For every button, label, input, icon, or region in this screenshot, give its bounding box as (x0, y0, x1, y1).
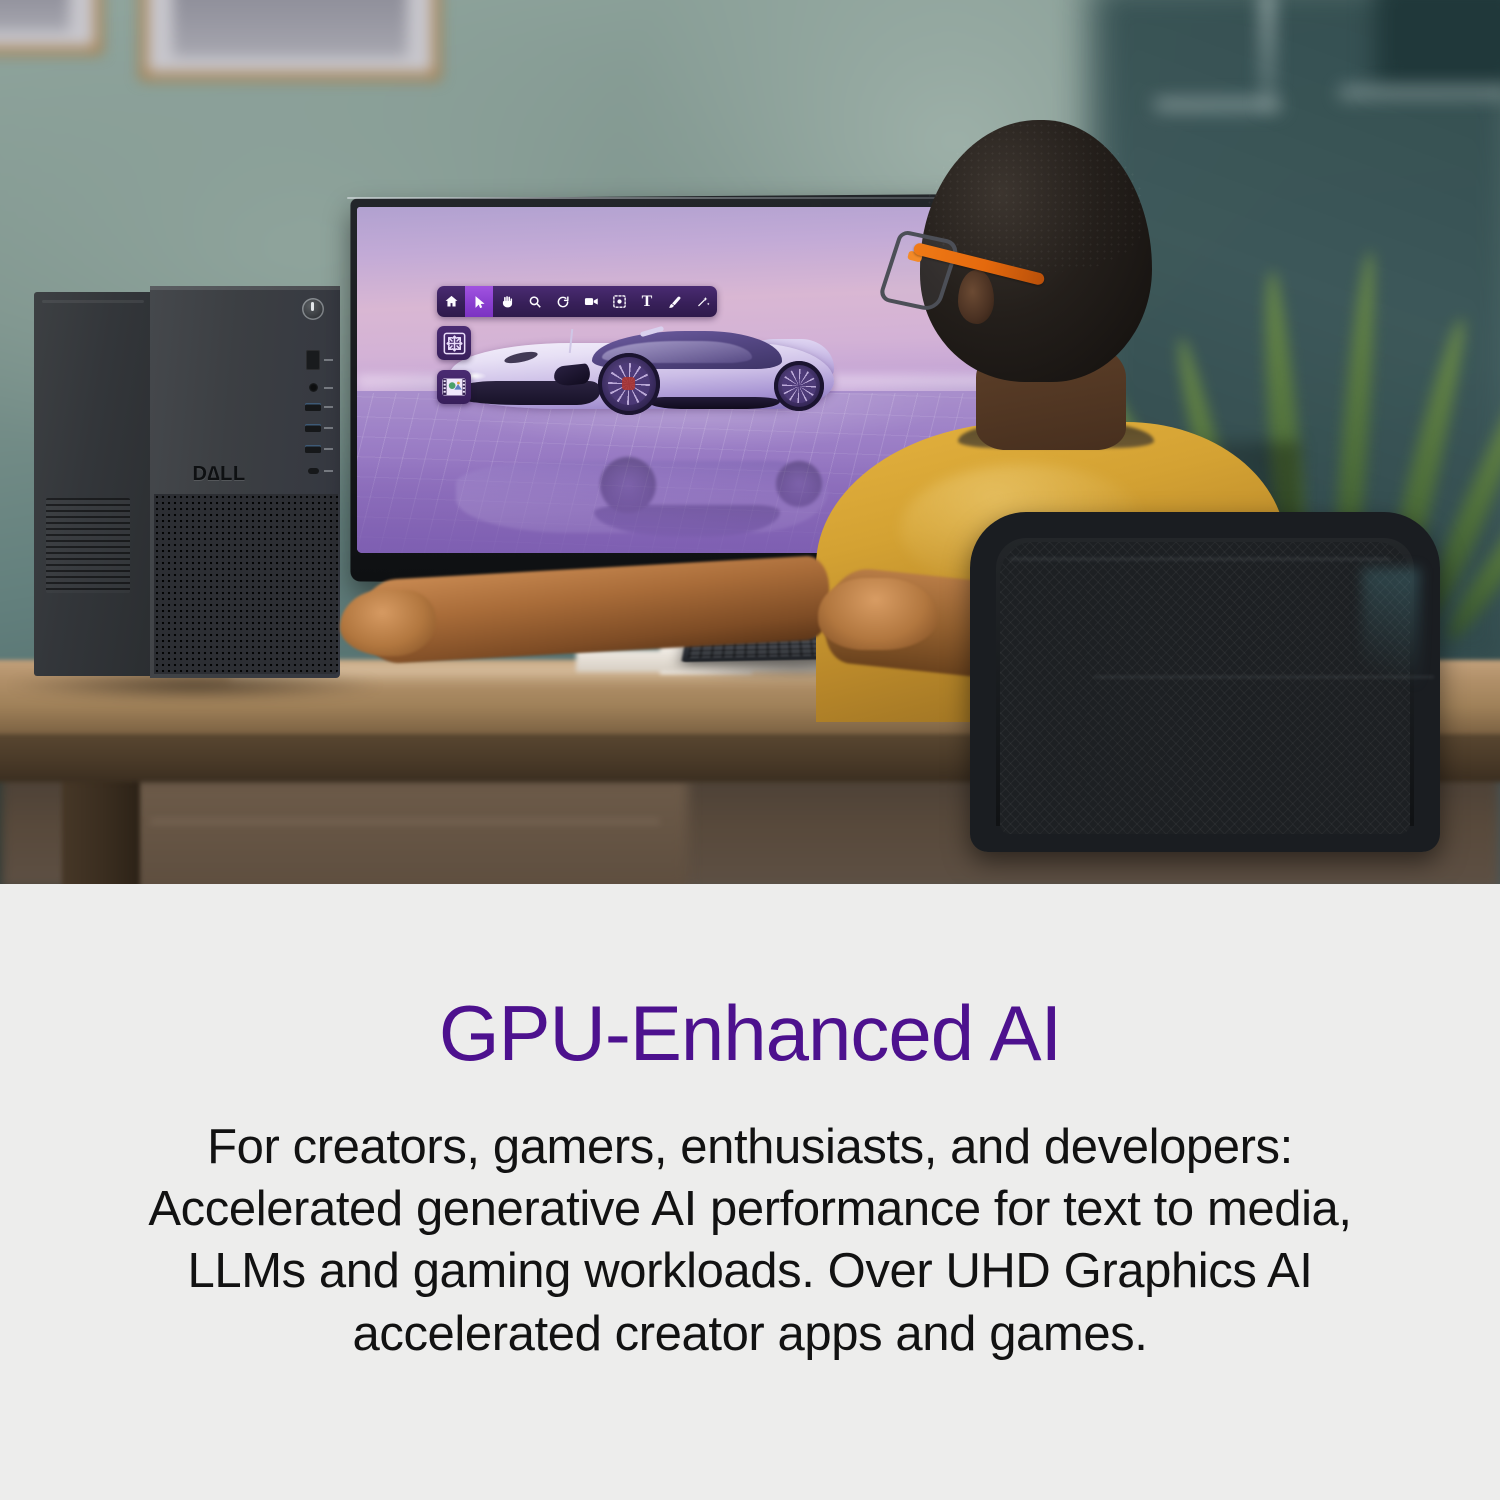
hero-photo: D∆LL (0, 0, 1500, 884)
magic-wand-icon[interactable] (689, 286, 717, 317)
body-paragraph: For creators, gamers, enthusiasts, and d… (90, 1116, 1410, 1365)
frame-mat (147, 0, 433, 73)
frame-artwork (0, 0, 69, 31)
home-icon[interactable] (437, 286, 465, 317)
window-pane-dark (1375, 0, 1500, 88)
media-filmstrip-icon[interactable] (437, 370, 471, 404)
frame-mat (0, 0, 95, 47)
window-frame-sill-right (1340, 88, 1500, 99)
power-icon (311, 302, 314, 311)
car-front-splitter (450, 381, 600, 405)
framed-artwork-left (0, 0, 102, 54)
dell-desktop-tower: D∆LL (34, 286, 340, 678)
chair-highlight (1010, 558, 1390, 560)
tower-top-edge (150, 286, 340, 290)
framed-artwork-right (140, 0, 440, 80)
brush-paint-icon[interactable] (661, 286, 689, 317)
copy-section: GPU-Enhanced AI For creators, gamers, en… (0, 884, 1500, 1500)
ear (958, 270, 994, 324)
cabinet-seam (150, 820, 660, 823)
headphone-jack[interactable] (309, 383, 318, 392)
tower-side-vent (46, 498, 130, 593)
tower-side-groove (42, 300, 144, 303)
usb-a-port[interactable] (305, 424, 321, 432)
transform-move-icon[interactable] (437, 326, 471, 360)
port-label-tick (324, 448, 333, 450)
left-hand (340, 590, 436, 656)
port-label-tick (324, 387, 333, 389)
page-title: GPU-Enhanced AI (0, 994, 1500, 1072)
usb-c-port[interactable] (308, 468, 319, 474)
usb-a-port[interactable] (305, 403, 321, 411)
tower-side-panel (34, 292, 152, 676)
office-chair (970, 512, 1460, 884)
car-side-skirt (648, 397, 780, 409)
text-tool-glyph: T (642, 294, 653, 310)
chair-mesh-back (1000, 542, 1410, 834)
cursor-select-icon[interactable] (465, 286, 493, 317)
right-hand (818, 578, 938, 650)
desk-cabinet (128, 780, 688, 884)
text-tool-icon[interactable]: T (633, 286, 661, 317)
tower-front-mesh-vent (154, 494, 338, 674)
rotate-orbit-icon[interactable] (549, 286, 577, 317)
app-toolbar[interactable]: T (437, 286, 717, 317)
port-label-tick (324, 406, 333, 408)
usb-a-port[interactable] (305, 445, 321, 453)
car-brake-caliper (622, 377, 635, 390)
port-label-tick (324, 427, 333, 429)
magnify-zoom-icon[interactable] (521, 286, 549, 317)
chair-edge-glow (1362, 568, 1420, 718)
marquee-select-icon[interactable] (605, 286, 633, 317)
video-camera-icon[interactable] (577, 286, 605, 317)
sports-car-render (442, 325, 842, 437)
hair-texture (926, 122, 1146, 272)
sd-card-slot[interactable] (306, 350, 320, 370)
dell-logo: D∆LL (186, 462, 252, 486)
port-label-tick (324, 470, 333, 472)
hand-pan-icon[interactable] (493, 286, 521, 317)
product-feature-card: D∆LL (0, 0, 1500, 1500)
port-label-tick (324, 359, 333, 361)
frame-artwork (173, 0, 407, 57)
